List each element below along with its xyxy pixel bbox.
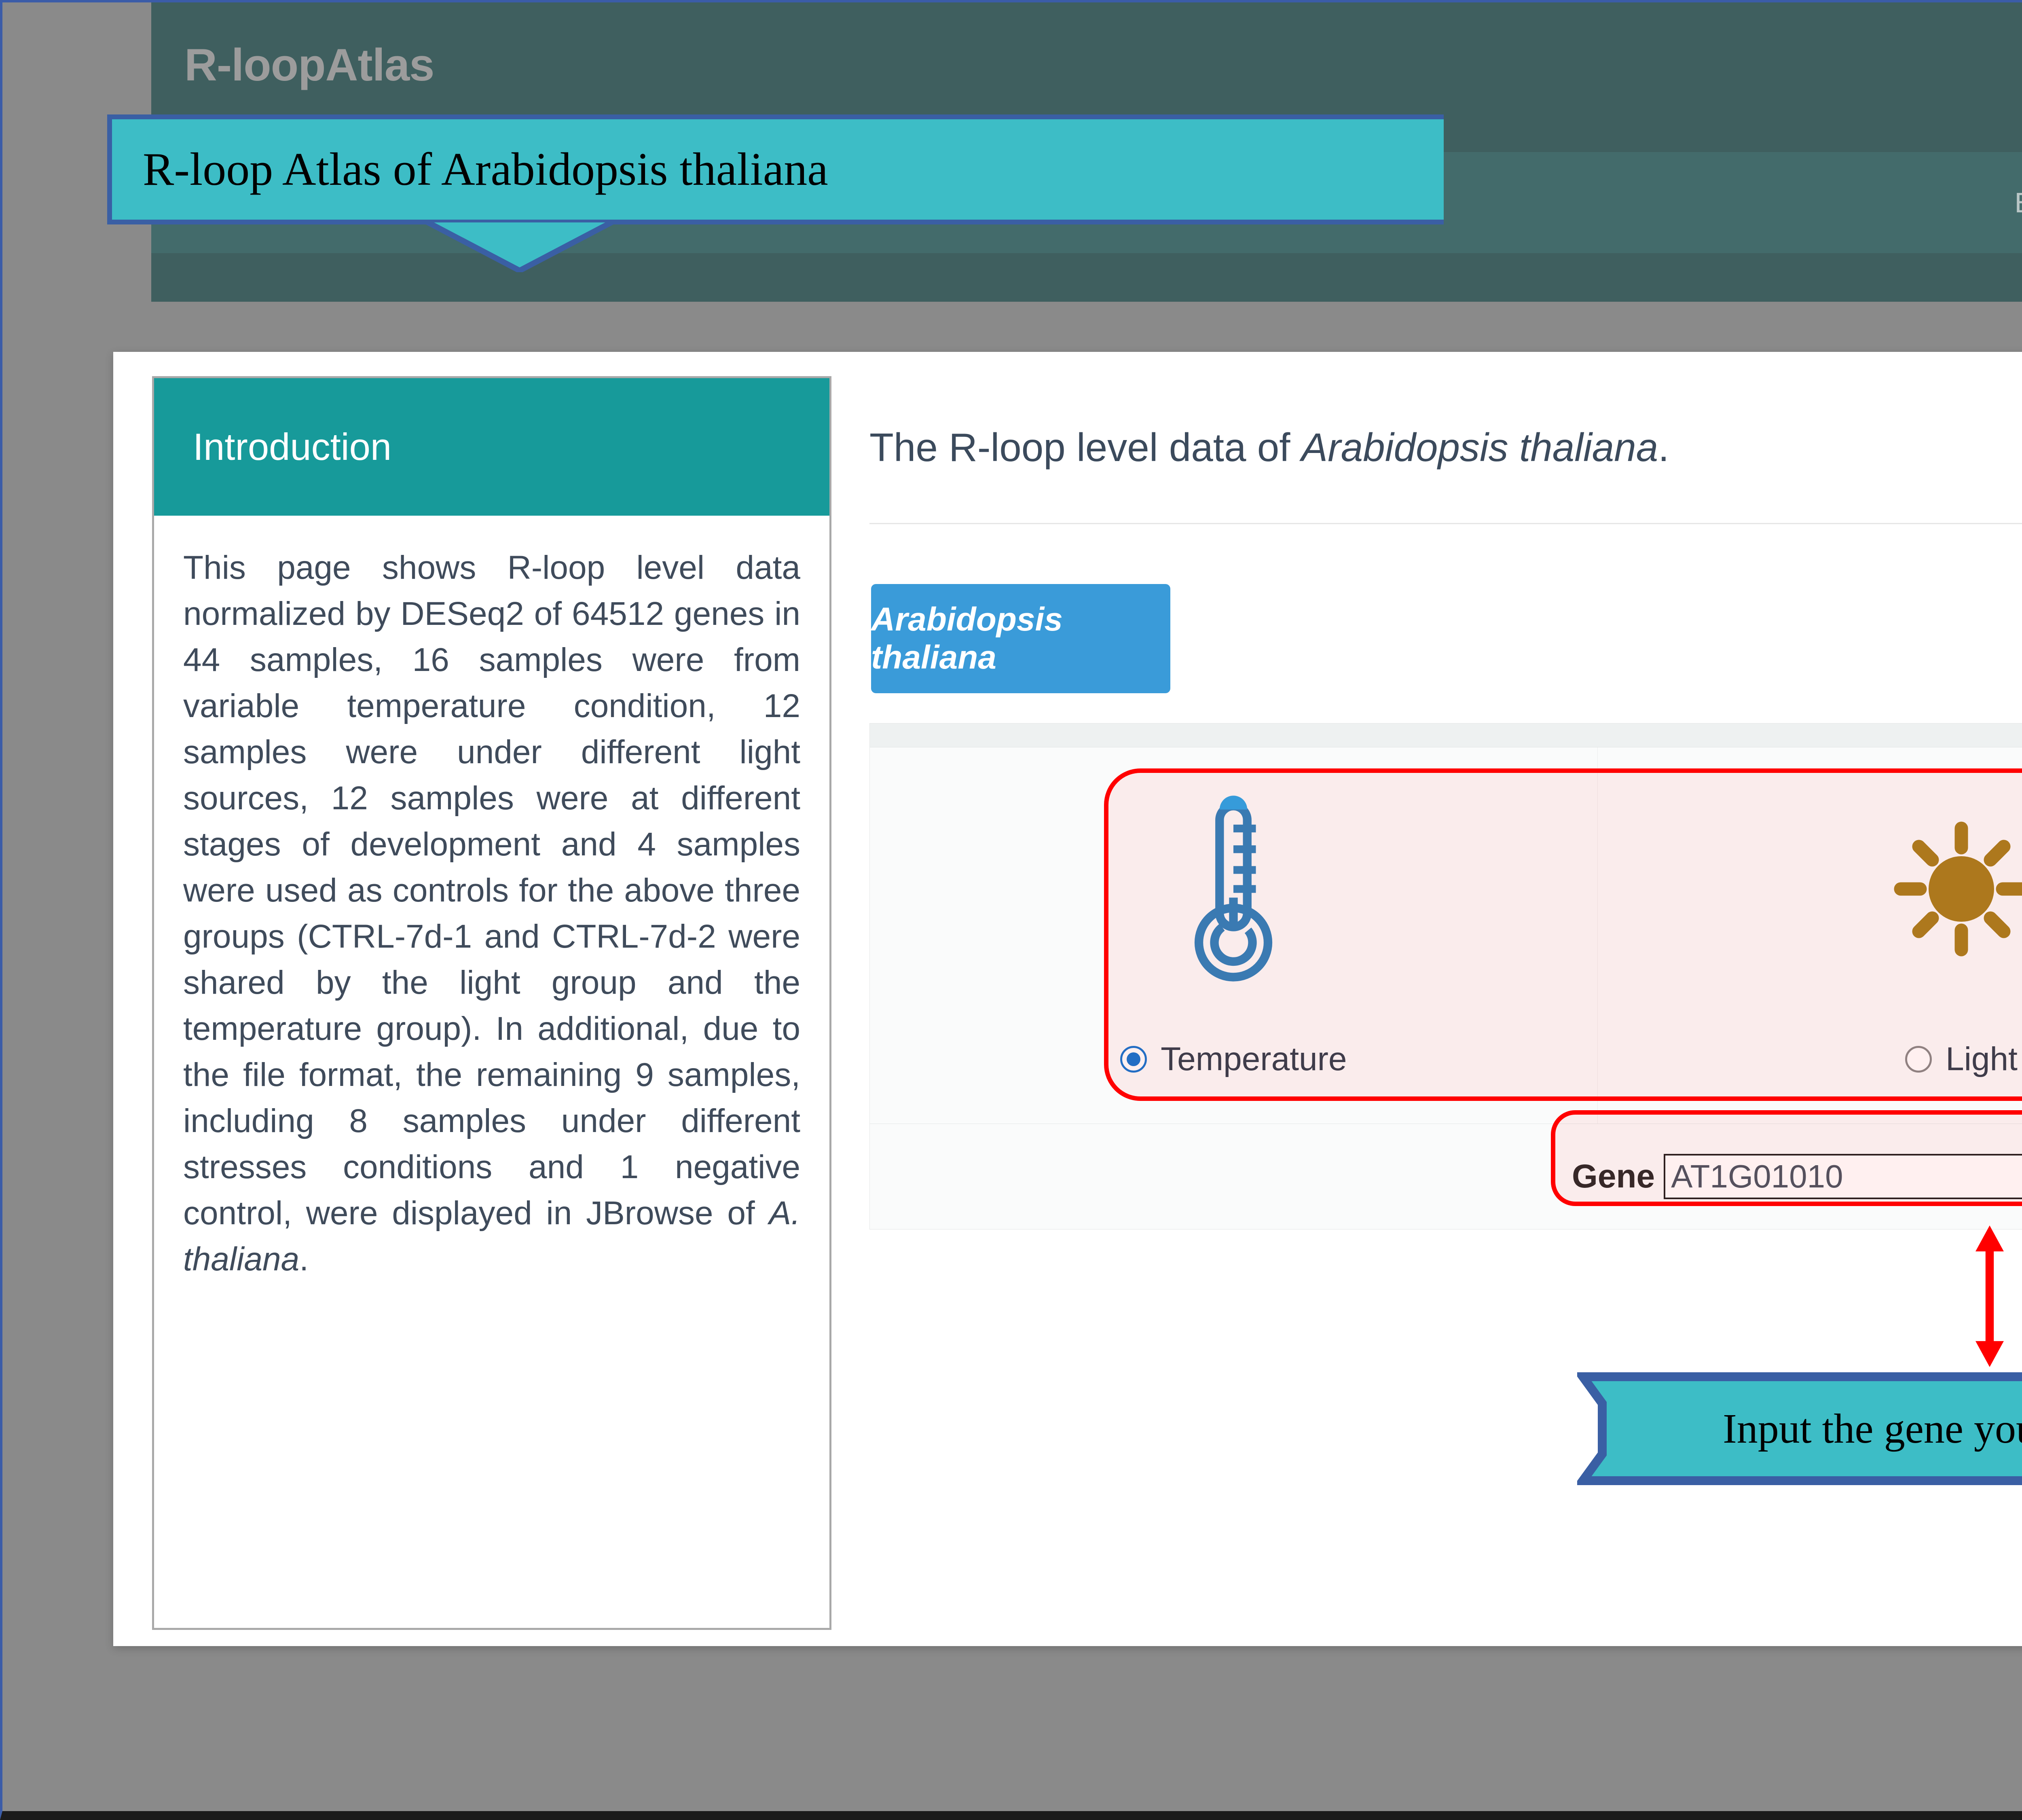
content-column: The R-loop level data of Arabidopsis tha…: [869, 376, 2022, 1230]
species-tab-arabidopsis-thaliana[interactable]: Arabidopsis thaliana: [871, 584, 1170, 693]
intro-text-part1: This page shows R-loop level data normal…: [183, 549, 800, 1232]
condition-label-temperature-group: Temperature: [870, 1040, 1597, 1078]
page-title-suffix: .: [1658, 425, 1669, 470]
heading-divider: [869, 523, 2022, 524]
thermometer-icon: [1181, 792, 1286, 986]
condition-label-temperature: Temperature: [1161, 1040, 1347, 1078]
site-brand[interactable]: R-loopAtlas: [184, 39, 434, 91]
page-title-prefix: The R-loop level data of: [869, 425, 1301, 470]
table-row: Temperature: [870, 747, 2022, 1124]
annotation-text-input: Input the gene you want to query: [1577, 1371, 2022, 1486]
annotation-callout-input: Input the gene you want to query: [1577, 1371, 2022, 1486]
sun-icon: [1889, 792, 2022, 986]
introduction-panel-header: Introduction: [154, 378, 829, 516]
nav-list: Browse Search DeepRloopPre Tools Help Li: [2015, 152, 2022, 253]
condition-cell-temperature[interactable]: Temperature: [870, 747, 1598, 1124]
nav-label-browse: Browse: [2015, 186, 2022, 219]
condition-selection-table: Temperature: [869, 723, 2022, 1230]
page-title: The R-loop level data of Arabidopsis tha…: [869, 376, 2022, 470]
condition-label-light: Light: [1946, 1040, 2018, 1078]
title-annotation-callout: R-loop Atlas of Arabidopsis thaliana: [107, 114, 1444, 224]
page-title-species: Arabidopsis thaliana: [1301, 425, 1658, 470]
gene-search-row: Gene Search: [870, 1124, 2022, 1229]
condition-cell-light[interactable]: Light: [1598, 747, 2022, 1124]
introduction-paragraph: This page shows R-loop level data normal…: [183, 545, 800, 1282]
table-header-strip: [870, 724, 2022, 747]
introduction-panel-body: This page shows R-loop level data normal…: [154, 516, 829, 1282]
title-annotation-body: R-loop Atlas of Arabidopsis thaliana: [107, 114, 1444, 224]
gene-search-input[interactable]: [1664, 1154, 2022, 1199]
radio-light[interactable]: [1905, 1046, 1932, 1073]
gene-search-form: Gene Search: [1572, 1152, 2022, 1201]
introduction-title: Introduction: [154, 425, 391, 469]
callout-notch-icon: [423, 220, 617, 272]
introduction-panel: Introduction This page shows R-loop leve…: [152, 376, 831, 1630]
nav-item-browse[interactable]: Browse: [2015, 186, 2022, 219]
condition-label-light-group: Light: [1598, 1040, 2022, 1078]
title-annotation-text: R-loop Atlas of Arabidopsis thaliana: [112, 143, 828, 197]
intro-text-part2: .: [299, 1241, 309, 1278]
gene-field-label: Gene: [1572, 1158, 1655, 1196]
radio-temperature[interactable]: [1120, 1046, 1147, 1073]
annotation-arrow-input: [1965, 1225, 2014, 1367]
